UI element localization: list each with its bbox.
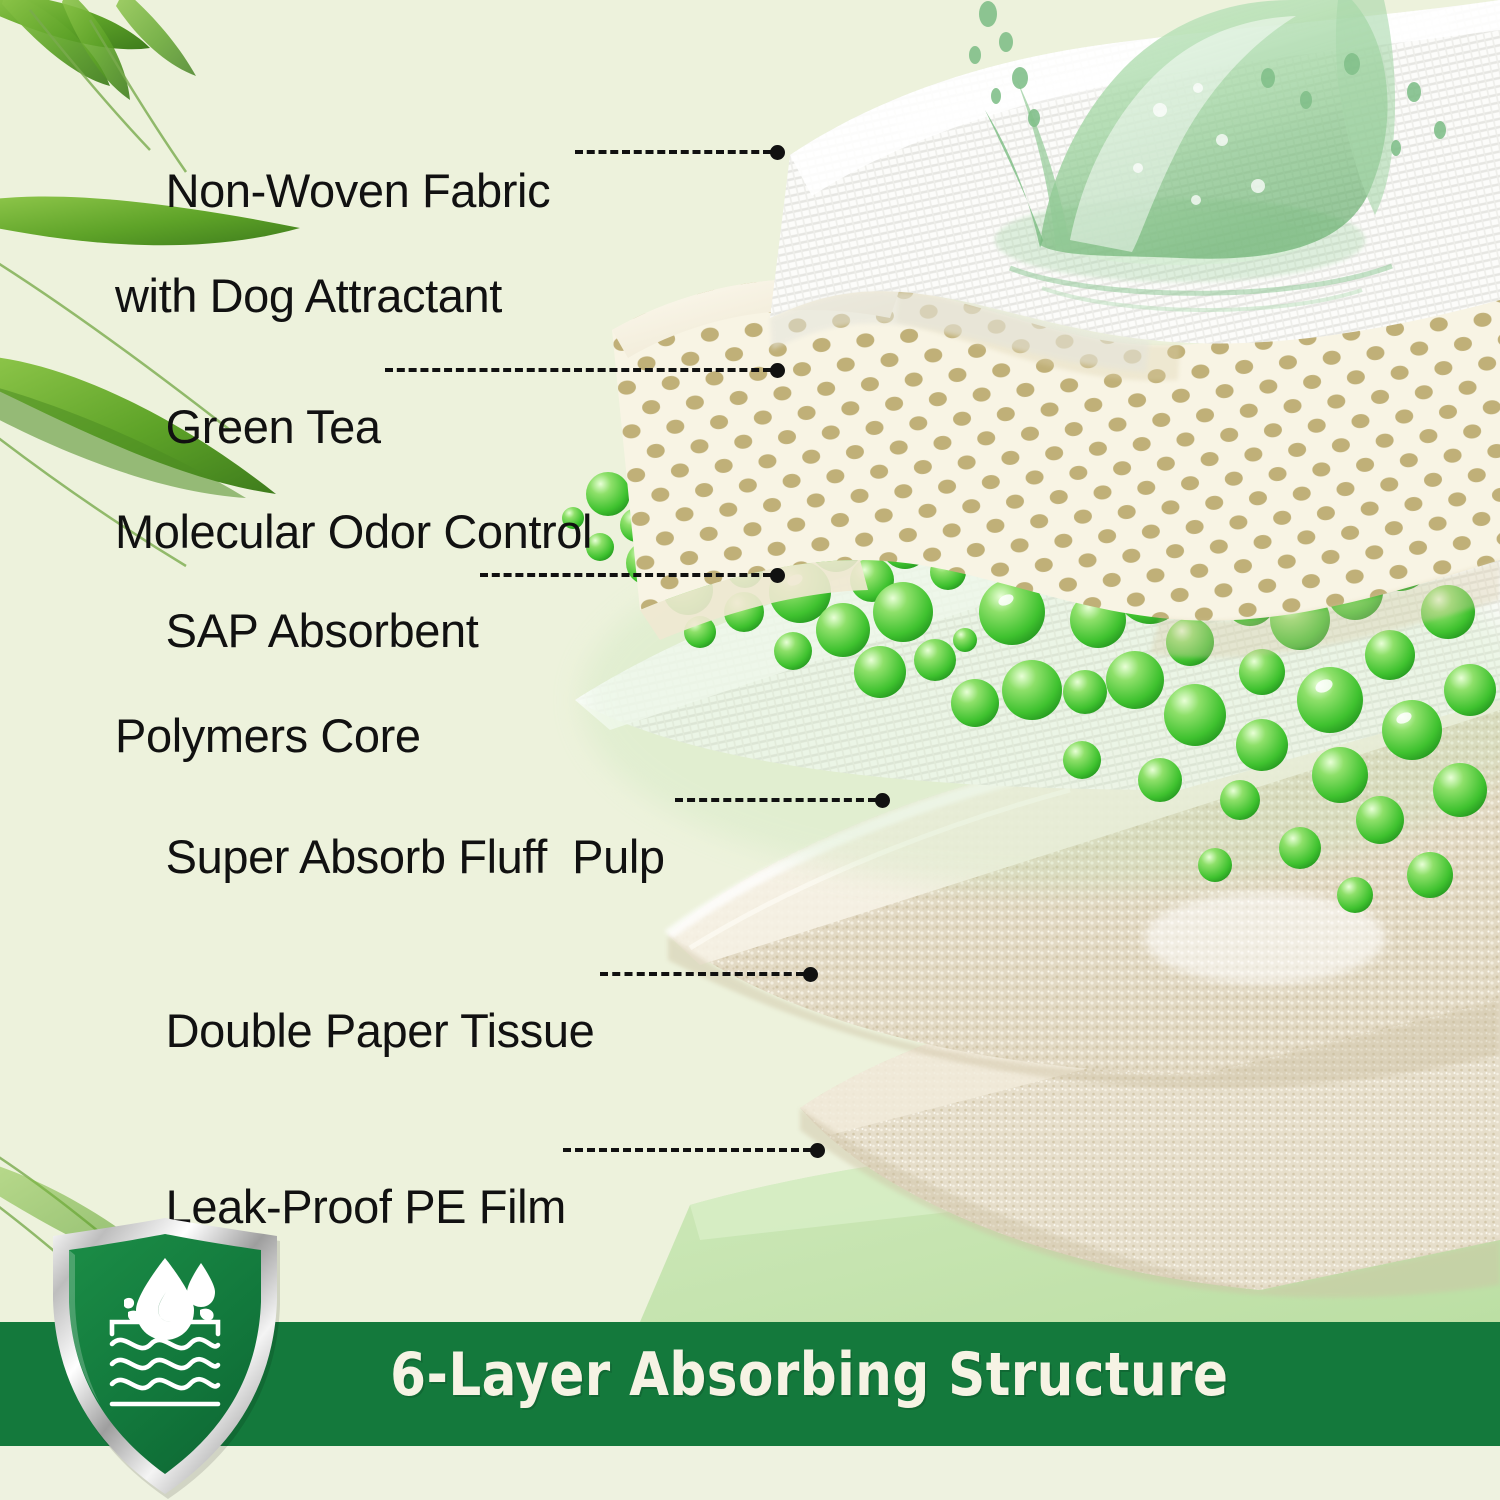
label-line-1: Non-Woven Fabric (166, 164, 551, 217)
infographic-canvas: Non-Woven Fabric with Dog Attractant Gre… (0, 0, 1500, 1500)
leader-dashes (385, 368, 771, 372)
leader-super-absorb-fluff-pulp (675, 793, 890, 807)
leader-dashes (563, 1148, 811, 1152)
label-line-1: Double Paper Tissue (166, 1004, 595, 1057)
leader-endpoint-dot (770, 568, 785, 583)
leader-endpoint-dot (770, 145, 785, 160)
water-splash (969, 0, 1446, 310)
layer-green-tea-sheet (612, 268, 1500, 658)
leader-dashes (575, 150, 771, 154)
leader-endpoint-dot (803, 967, 818, 982)
label-line-1: Green Tea (166, 400, 381, 453)
leader-green-tea-odor-control (385, 363, 785, 377)
label-line-1: Super Absorb Fluff Pulp (166, 830, 665, 883)
layer-sap-beads (562, 438, 1500, 913)
banner-title: 6-Layer Absorbing Structure (375, 1340, 1244, 1410)
label-line-2: Molecular Odor Control (115, 506, 592, 559)
leader-dashes (675, 798, 876, 802)
waterproof-shield-badge (40, 1218, 290, 1500)
leader-dashes (480, 573, 771, 577)
leader-sap-absorbent-polymers-core (480, 568, 785, 582)
leader-leak-proof-pe-film (563, 1143, 825, 1157)
label-line-2: with Dog Attractant (115, 270, 550, 323)
leader-endpoint-dot (810, 1143, 825, 1158)
leader-double-paper-tissue (600, 967, 818, 981)
layer-paper-tissue (800, 920, 1500, 1298)
leader-endpoint-dot (770, 363, 785, 378)
label-line-2: Polymers Core (115, 710, 478, 763)
label-double-paper-tissue: Double Paper Tissue (115, 952, 594, 1110)
sap-carrier-sheet (575, 395, 1500, 790)
label-line-1: SAP Absorbent (166, 604, 479, 657)
layer-fluff-pulp (668, 665, 1500, 1088)
leader-endpoint-dot (875, 793, 890, 808)
layer-nonwoven-fabric (770, 0, 1500, 372)
label-super-absorb-fluff-pulp: Super Absorb Fluff Pulp (115, 778, 665, 936)
leader-dashes (600, 972, 804, 976)
leader-non-woven-fabric (575, 145, 785, 159)
shield-icon (40, 1218, 290, 1500)
